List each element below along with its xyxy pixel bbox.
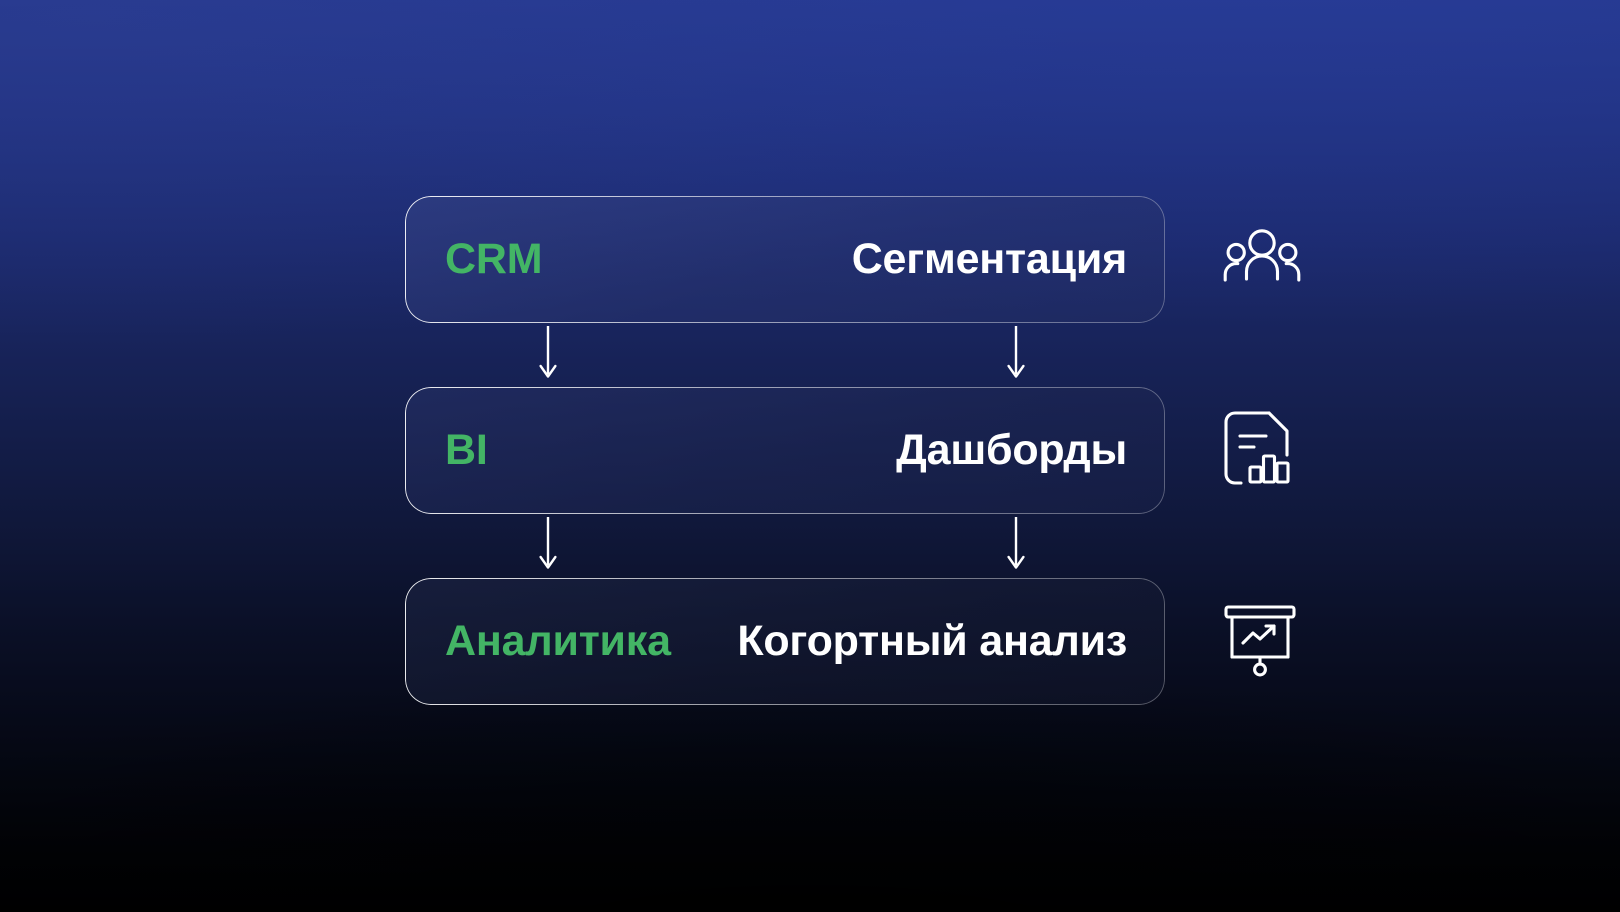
presentation-trend-icon [1222,601,1298,682]
flow-row-crm[interactable]: CRM Сегментация [405,196,1165,323]
flow-row-tag: CRM [445,238,542,281]
arrow-down-icon [537,326,559,382]
document-chart-icon [1222,410,1294,491]
arrow-down-icon [1005,517,1027,573]
diagram-canvas: CRM Сегментация BI Даш [0,0,1620,912]
arrow-down-icon [1005,326,1027,382]
arrow-down-icon [537,517,559,573]
flow-row-title: Сегментация [852,238,1127,281]
icon-spacer [1222,323,1306,387]
flow-row-title: Дашборды [896,429,1127,472]
side-icon-column [1222,196,1306,705]
icon-spacer [1222,514,1306,578]
flow-stack: CRM Сегментация BI Даш [405,196,1165,705]
side-icon-slot-analytics [1222,578,1306,705]
connector-group-crm-bi [405,323,1165,387]
side-icon-slot-bi [1222,387,1306,514]
flow-row-bi[interactable]: BI Дашборды [405,387,1165,514]
flow-row-title: Когортный анализ [737,620,1127,663]
flow-row-tag: Аналитика [445,620,671,663]
connector-group-bi-analytics [405,514,1165,578]
flow-row-analytics[interactable]: Аналитика Когортный анализ [405,578,1165,705]
people-group-icon [1222,226,1302,293]
side-icon-slot-crm [1222,196,1306,323]
flow-row-tag: BI [445,429,488,472]
